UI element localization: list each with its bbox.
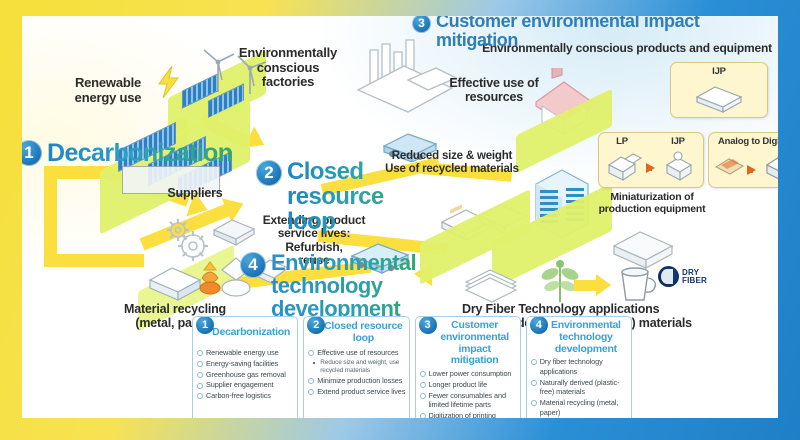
paper-stack-icon (460, 260, 536, 308)
paper-cup-icon (614, 264, 658, 306)
dryfiber-flow-arrow (574, 280, 598, 291)
callout-analog-to-digital-label: Analog to Digital (709, 136, 778, 147)
headline-badge-4: 4 (240, 252, 266, 278)
headline-label-4: Environmental technology development (271, 252, 439, 321)
label-eco-factories: Environmentally conscious factories (218, 46, 358, 90)
headline-label-2: Closed resource loop (287, 160, 426, 235)
callout-lp-label: LP (605, 136, 639, 147)
label-renewable-energy: Renewable energy use (54, 76, 162, 105)
headline-label-1: Decarbonization (47, 140, 232, 166)
list-item: Carbon-free logistics (197, 391, 294, 401)
label-miniaturization: Miniaturization of production equipment (582, 192, 722, 216)
headline-badge-1: 1 (22, 140, 42, 166)
lp-printer-icon (605, 149, 645, 183)
list-item: Extend product service lives (308, 387, 405, 397)
diagram-canvas: DRY FIBER IJP LP IJP (22, 16, 778, 418)
list-item-sub: Reduce size and weight, use recycled mat… (308, 359, 405, 375)
summary-card-4-badge: 4 (530, 316, 548, 334)
callout-ijp-label: IJP (661, 136, 695, 147)
headline-badge-3: 3 (412, 16, 431, 33)
headline-env-technology: 4 Environmental technology development (240, 252, 440, 321)
callout-ijp-top: IJP (670, 62, 768, 118)
label-dry-fiber-applications: Dry Fiber Technology applications (462, 302, 742, 316)
summary-card-1-badge: 1 (196, 316, 214, 334)
list-item: Dry fiber technology applications (531, 357, 628, 376)
list-item: Fewer consumables and limited lifetime p… (420, 391, 517, 410)
headline-decarbonization: 1 Decarbonization (22, 140, 232, 166)
list-item: Material recycling (metal, paper) (531, 398, 628, 417)
label-effective-use: Effective use of resources (432, 76, 556, 104)
list-item: Renewable energy use (197, 348, 294, 358)
list-item: Effective use of resources (308, 348, 405, 358)
list-item: Minimize production losses (308, 376, 405, 386)
headline-label-3: Customer environmental impact mitigation (436, 16, 778, 49)
summary-cards: 1 Decarbonization Renewable energy use E… (192, 316, 632, 418)
callout-ijp-top-label: IJP (671, 66, 767, 77)
list-item: Lower power consumption (420, 369, 517, 379)
headline-customer-impact: 3 Customer environmental impact mitigati… (412, 16, 778, 49)
summary-card-3-list: Lower power consumption Longer product l… (416, 369, 520, 418)
list-item: Supplier engagement (197, 380, 294, 390)
analog-press-icon (713, 153, 747, 181)
plant-sprout-icon (536, 252, 584, 304)
list-item: Greenhouse gas removal (197, 370, 294, 380)
summary-card-1-list: Renewable energy use Energy-saving facil… (193, 348, 297, 401)
summary-card-3[interactable]: 3 Customer environmental impact mitigati… (415, 316, 521, 418)
flow-arrow-bottom-horizontal (44, 254, 144, 267)
list-item: Naturally derived (plastic-free) materia… (531, 378, 628, 397)
diagram-frame: DRY FIBER IJP LP IJP (0, 0, 800, 440)
list-item: Digitization of printing (420, 411, 517, 418)
summary-card-4[interactable]: 4 Environmental technology development D… (526, 316, 632, 418)
callout-lp-to-ijp: LP IJP (598, 132, 704, 188)
headline-badge-2: 2 (256, 160, 282, 186)
summary-card-4-list: Dry fiber technology applications Natura… (527, 357, 631, 417)
summary-card-2-list: Effective use of resources Reduce size a… (304, 348, 408, 396)
list-item: Longer product life (420, 380, 517, 390)
summary-card-3-badge: 3 (419, 316, 437, 334)
ijp-printer-icon (693, 81, 749, 113)
ijp-printer-small-icon (663, 149, 697, 183)
callout-analog-to-digital: Analog to Digital (708, 132, 778, 188)
list-item: Energy-saving facilities (197, 359, 294, 369)
lp-to-ijp-arrow-icon (646, 163, 655, 173)
dry-fiber-logo-line2: FIBER (682, 277, 707, 285)
digital-printer-icon (763, 151, 778, 183)
dryfiber-flow-arrowhead (596, 274, 611, 296)
label-suppliers: Suppliers (150, 186, 240, 200)
analog-to-digital-arrow-icon (747, 165, 756, 175)
summary-card-1[interactable]: 1 Decarbonization Renewable energy use E… (192, 316, 298, 418)
headline-closed-resource-loop: 2 Closed resource loop (256, 160, 426, 235)
flow-arrow-left-vertical (44, 166, 57, 266)
summary-card-2[interactable]: 2 Closed resource loop Effective use of … (303, 316, 409, 418)
